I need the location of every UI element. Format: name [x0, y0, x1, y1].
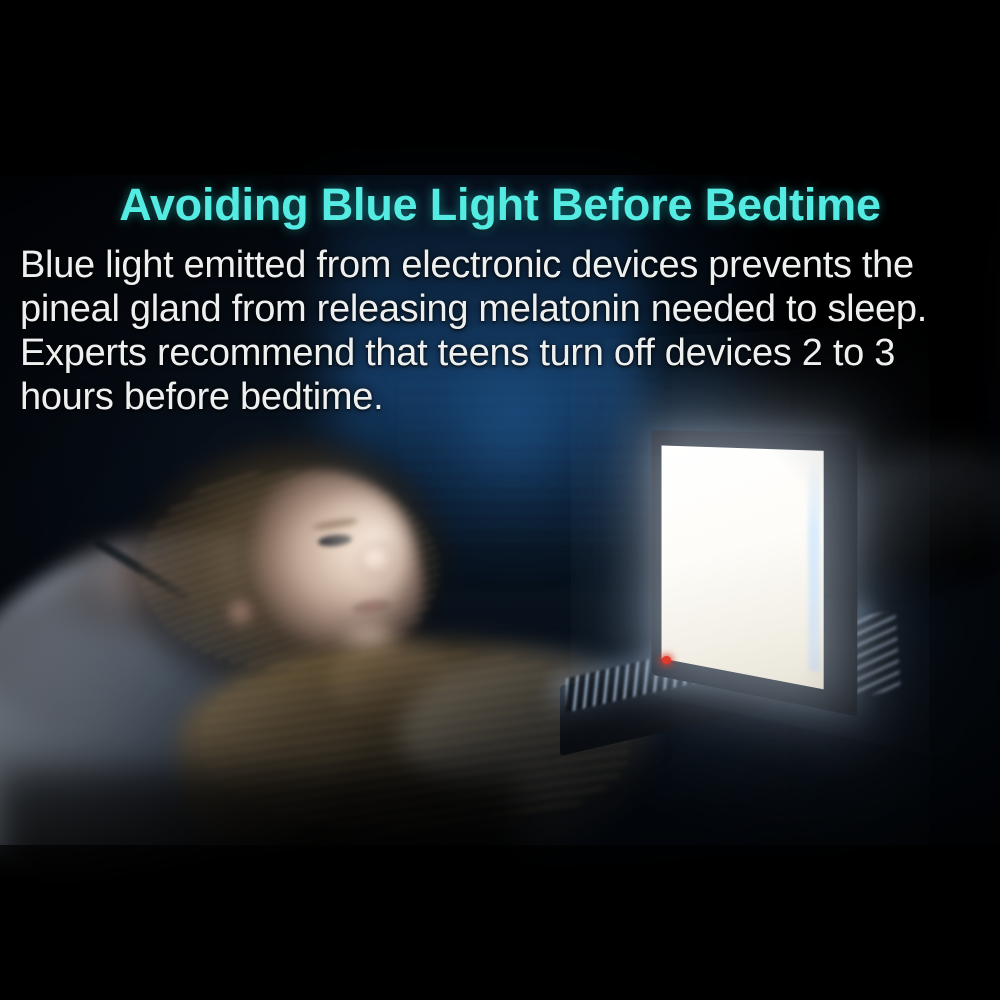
body-line-4: hours before bedtime.: [20, 375, 982, 419]
text-overlay: Avoiding Blue Light Before Bedtime Blue …: [0, 0, 1000, 1000]
body-line-3: Experts recommend that teens turn off de…: [20, 331, 982, 375]
poster-headline: Avoiding Blue Light Before Bedtime: [0, 182, 1000, 227]
blue-light-infographic-poster: Avoiding Blue Light Before Bedtime Blue …: [0, 0, 1000, 1000]
poster-body-text: Blue light emitted from electronic devic…: [20, 243, 982, 419]
body-line-2: pineal gland from releasing melatonin ne…: [20, 287, 982, 331]
body-line-1: Blue light emitted from electronic devic…: [20, 243, 982, 287]
